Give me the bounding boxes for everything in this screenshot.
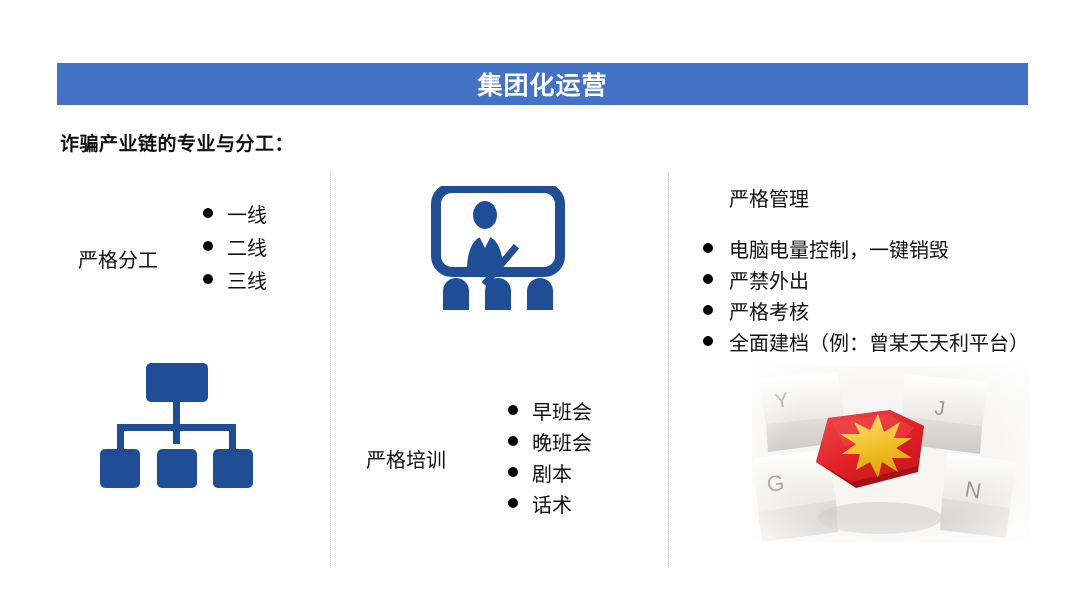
list-item-label: 二线 — [227, 239, 267, 259]
column-divider-left — [330, 172, 331, 568]
list-item-label: 电脑电量控制，一键销毁 — [729, 241, 949, 261]
list-item: 电脑电量控制，一键销毁 — [703, 241, 1029, 261]
list-item: 晚班会 — [508, 434, 592, 454]
list-item: 严禁外出 — [703, 272, 1029, 292]
org-connector-drop-left — [117, 424, 124, 450]
classroom-training-icon — [431, 186, 565, 310]
column-divider-right — [668, 172, 669, 568]
slide-title-bar: 集团化运营 — [57, 63, 1028, 105]
bullet-dot-icon — [703, 274, 713, 284]
training-label: 严格培训 — [366, 444, 446, 473]
org-node-child-1 — [100, 449, 140, 488]
management-list: 电脑电量控制，一键销毁 严禁外出 严格考核 全面建档（例：曾某天天利平台） — [703, 241, 1029, 365]
org-connector-drop-right — [229, 424, 236, 450]
list-item-label: 全面建档（例：曾某天天利平台） — [729, 334, 1029, 354]
list-item: 全面建档（例：曾某天天利平台） — [703, 334, 1029, 354]
list-item-label: 严禁外出 — [729, 272, 809, 292]
org-node-child-3 — [213, 449, 253, 488]
list-item: 一线 — [203, 206, 267, 226]
slide-subtitle: 诈骗产业链的专业与分工： — [60, 129, 294, 156]
management-label: 严格管理 — [729, 183, 809, 212]
bullet-dot-icon — [203, 241, 213, 251]
division-list: 一线 二线 三线 — [203, 206, 267, 305]
list-item-label: 晚班会 — [532, 434, 592, 454]
list-item-label: 话术 — [532, 496, 572, 516]
page-title: 集团化运营 — [477, 66, 607, 102]
bullet-dot-icon — [508, 405, 518, 415]
bullet-dot-icon — [508, 436, 518, 446]
list-item: 三线 — [203, 272, 267, 292]
org-node-child-2 — [157, 449, 197, 488]
training-list: 早班会 晚班会 剧本 话术 — [508, 403, 592, 527]
list-item-label: 三线 — [227, 272, 267, 292]
org-node-top — [146, 363, 208, 402]
keyboard-explosion-key-photo: Y J G N — [752, 366, 1030, 542]
list-item: 剧本 — [508, 465, 592, 485]
bullet-dot-icon — [508, 467, 518, 477]
bullet-dot-icon — [703, 336, 713, 346]
bullet-dot-icon — [203, 274, 213, 284]
org-connector-horizontal — [117, 424, 236, 431]
bullet-dot-icon — [203, 208, 213, 218]
bullet-dot-icon — [703, 305, 713, 315]
list-item-label: 剧本 — [532, 465, 572, 485]
division-label: 严格分工 — [78, 244, 158, 273]
list-item: 二线 — [203, 239, 267, 259]
list-item: 严格考核 — [703, 303, 1029, 323]
organization-chart-icon — [100, 363, 253, 488]
list-item-label: 严格考核 — [729, 303, 809, 323]
bullet-dot-icon — [703, 243, 713, 253]
list-item-label: 早班会 — [532, 403, 592, 423]
list-item: 早班会 — [508, 403, 592, 423]
list-item: 话术 — [508, 496, 592, 516]
bullet-dot-icon — [508, 498, 518, 508]
list-item-label: 一线 — [227, 206, 267, 226]
org-connector-vertical — [173, 402, 180, 444]
